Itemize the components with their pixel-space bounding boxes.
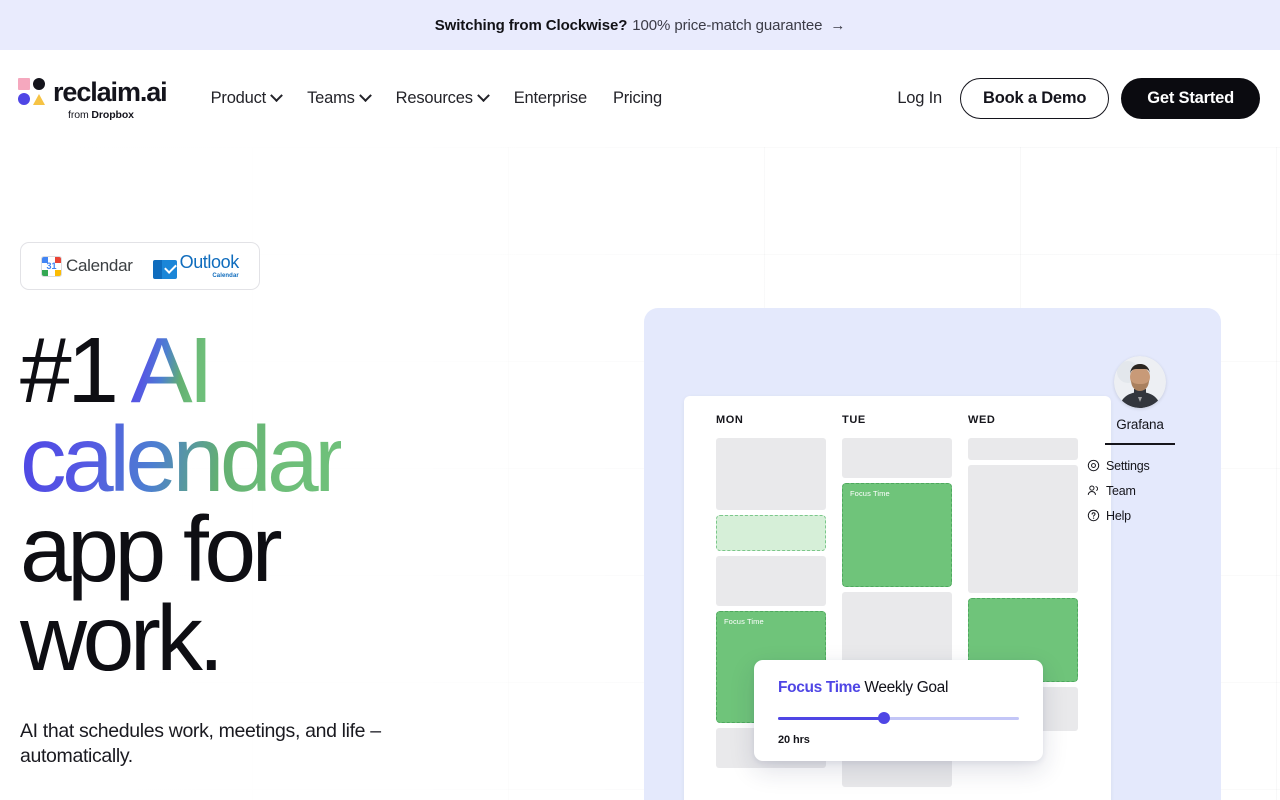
profile-name: Grafana (1116, 417, 1163, 432)
weekly-goal-value: 20 hrs (778, 734, 1019, 746)
calendar-event-block[interactable] (968, 438, 1078, 460)
mockup-profile-rail: Grafana Settings Team (1085, 356, 1195, 523)
day-label-wed: WED (968, 414, 1078, 426)
logo-triangle-shape (33, 94, 45, 105)
calendar-focus-time-block[interactable]: Focus Time (842, 483, 952, 587)
get-started-button[interactable]: Get Started (1121, 78, 1260, 119)
calendar-event-block[interactable] (842, 438, 952, 478)
people-icon (1087, 484, 1100, 497)
hero-section: 31 Calendar Outlook Calendar #1 AI calen… (0, 147, 1280, 800)
chevron-down-icon (359, 89, 372, 102)
outlook-icon (153, 260, 177, 279)
chevron-down-icon (477, 89, 490, 102)
gear-icon (1087, 459, 1100, 472)
login-link[interactable]: Log In (897, 89, 942, 108)
outlook-label: Outlook (180, 253, 239, 271)
calendar-suggested-block[interactable] (716, 515, 826, 551)
day-label-mon: MON (716, 414, 826, 426)
profile-links: Settings Team Help (1087, 459, 1150, 523)
nav-item-product[interactable]: Product (211, 89, 281, 108)
rail-item-settings-label: Settings (1106, 459, 1150, 473)
reclaim-logo-mark-icon (18, 78, 46, 106)
goal-card-title-rest: Weekly Goal (860, 679, 948, 696)
rail-item-settings[interactable]: Settings (1087, 459, 1150, 473)
nav-item-pricing-label: Pricing (613, 89, 662, 108)
slider-fill (778, 717, 884, 720)
nav-item-resources[interactable]: Resources (396, 89, 488, 108)
nav-links: Product Teams Resources Enterprise Prici… (211, 89, 662, 108)
announcement-banner[interactable]: Switching from Clockwise? 100% price-mat… (0, 0, 1280, 50)
page-title: #1 AI calendar app for work. (20, 326, 580, 683)
outlook-icon-left-panel (153, 260, 162, 279)
logo-wordmark: reclaim.ai (53, 77, 167, 108)
google-calendar-badge: 31 Calendar (41, 256, 133, 277)
rail-item-team-label: Team (1106, 484, 1136, 498)
book-demo-button[interactable]: Book a Demo (960, 78, 1109, 119)
main-navigation: reclaim.ai from Dropbox Product Teams Re… (0, 50, 1280, 147)
rail-item-help[interactable]: Help (1087, 509, 1150, 523)
help-icon (1087, 509, 1100, 522)
nav-item-enterprise[interactable]: Enterprise (514, 89, 587, 108)
outlook-calendar-badge: Outlook Calendar (153, 253, 239, 279)
calendar-event-block[interactable] (968, 465, 1078, 593)
site-logo[interactable]: reclaim.ai from Dropbox (18, 77, 167, 121)
rail-item-help-label: Help (1106, 509, 1131, 523)
slider-thumb[interactable] (878, 712, 890, 724)
focus-time-block-title: Focus Time (724, 617, 764, 626)
hero-subtext: AI that schedules work, meetings, and li… (20, 719, 420, 768)
day-label-tue: TUE (842, 414, 952, 426)
calendar-event-block[interactable] (716, 556, 826, 606)
rail-item-team[interactable]: Team (1087, 484, 1150, 498)
weekly-goal-slider[interactable] (778, 712, 1019, 724)
hero-left-column: 31 Calendar Outlook Calendar #1 AI calen… (20, 242, 580, 768)
nav-item-teams-label: Teams (307, 89, 355, 108)
nav-item-teams[interactable]: Teams (307, 89, 370, 108)
google-calendar-icon: 31 (41, 256, 62, 277)
arrow-right-icon: → (830, 17, 845, 34)
headline-work: work. (20, 586, 220, 690)
nav-item-resources-label: Resources (396, 89, 473, 108)
nav-item-enterprise-label: Enterprise (514, 89, 587, 108)
announcement-bold-text: Switching from Clockwise? (435, 17, 628, 34)
chevron-down-icon (270, 89, 283, 102)
nav-item-product-label: Product (211, 89, 266, 108)
nav-actions: Log In Book a Demo Get Started (897, 78, 1260, 119)
avatar[interactable] (1114, 356, 1166, 408)
logo-subtitle: from Dropbox (68, 109, 134, 121)
calendar-event-block[interactable] (716, 438, 826, 510)
logo-blue-circle-shape (18, 93, 30, 105)
outlook-sublabel: Calendar (212, 273, 238, 279)
announcement-text: 100% price-match guarantee (632, 17, 822, 34)
goal-card-title-highlight: Focus Time (778, 679, 860, 696)
outlook-text-group: Outlook Calendar (180, 253, 239, 279)
logo-dark-circle-shape (33, 78, 45, 90)
focus-time-weekly-goal-card: Focus Time Weekly Goal 20 hrs (754, 660, 1043, 761)
goal-card-title: Focus Time Weekly Goal (778, 679, 1019, 697)
logo-subtitle-brand: Dropbox (91, 109, 133, 121)
google-calendar-label: Calendar (66, 256, 133, 276)
focus-time-block-title: Focus Time (850, 489, 890, 498)
gcal-day-number: 31 (42, 257, 61, 276)
nav-item-pricing[interactable]: Pricing (613, 89, 662, 108)
profile-divider (1105, 443, 1175, 445)
calendar-integrations-badge: 31 Calendar Outlook Calendar (20, 242, 260, 290)
outlook-icon-check (162, 260, 177, 279)
logo-subtitle-prefix: from (68, 109, 91, 121)
logo-square-shape (18, 78, 30, 90)
